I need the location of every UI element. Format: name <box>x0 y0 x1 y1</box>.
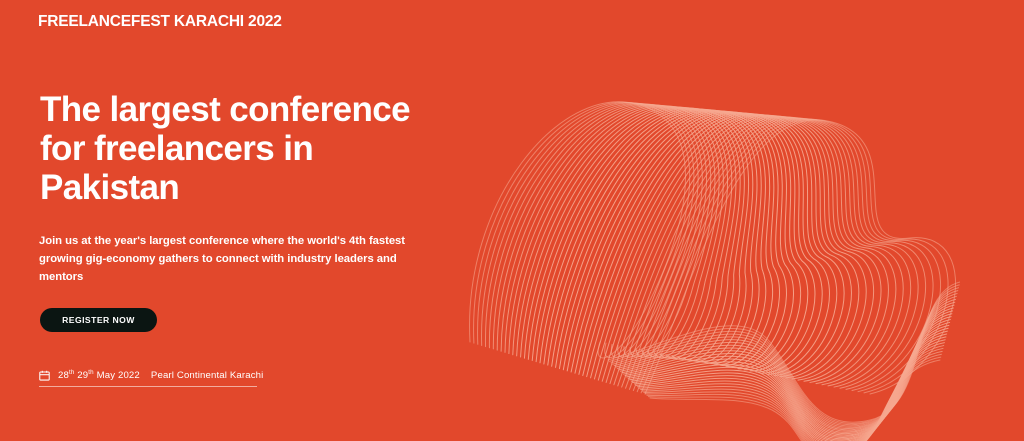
event-dates: 28th 29th May 2022 <box>58 371 140 381</box>
headline-line-1: The largest conference <box>40 90 460 129</box>
calendar-icon <box>39 370 50 381</box>
abstract-wave-illustration <box>440 42 960 441</box>
event-month-year: May 2022 <box>97 370 140 381</box>
brand-logo-text: FREELANCEFEST KARACHI 2022 <box>38 14 282 30</box>
register-now-button[interactable]: REGISTER NOW <box>40 308 157 332</box>
wave-blend-svg <box>440 42 960 441</box>
event-day-second: 29 <box>77 370 88 381</box>
event-day-second-suffix: th <box>88 369 93 376</box>
event-day-first-suffix: th <box>69 369 74 376</box>
event-details: 28th 29th May 2022 Pearl Continental Kar… <box>39 370 257 387</box>
hero-subtitle: Join us at the year's largest conference… <box>39 232 411 286</box>
hero-banner: FREELANCEFEST KARACHI 2022 The largest c… <box>0 0 1024 441</box>
headline-line-2: for freelancers in <box>40 129 460 168</box>
headline-line-3: Pakistan <box>40 168 460 207</box>
event-venue: Pearl Continental Karachi <box>151 371 264 381</box>
event-day-first: 28 <box>58 370 69 381</box>
page-title: The largest conference for freelancers i… <box>40 90 460 207</box>
